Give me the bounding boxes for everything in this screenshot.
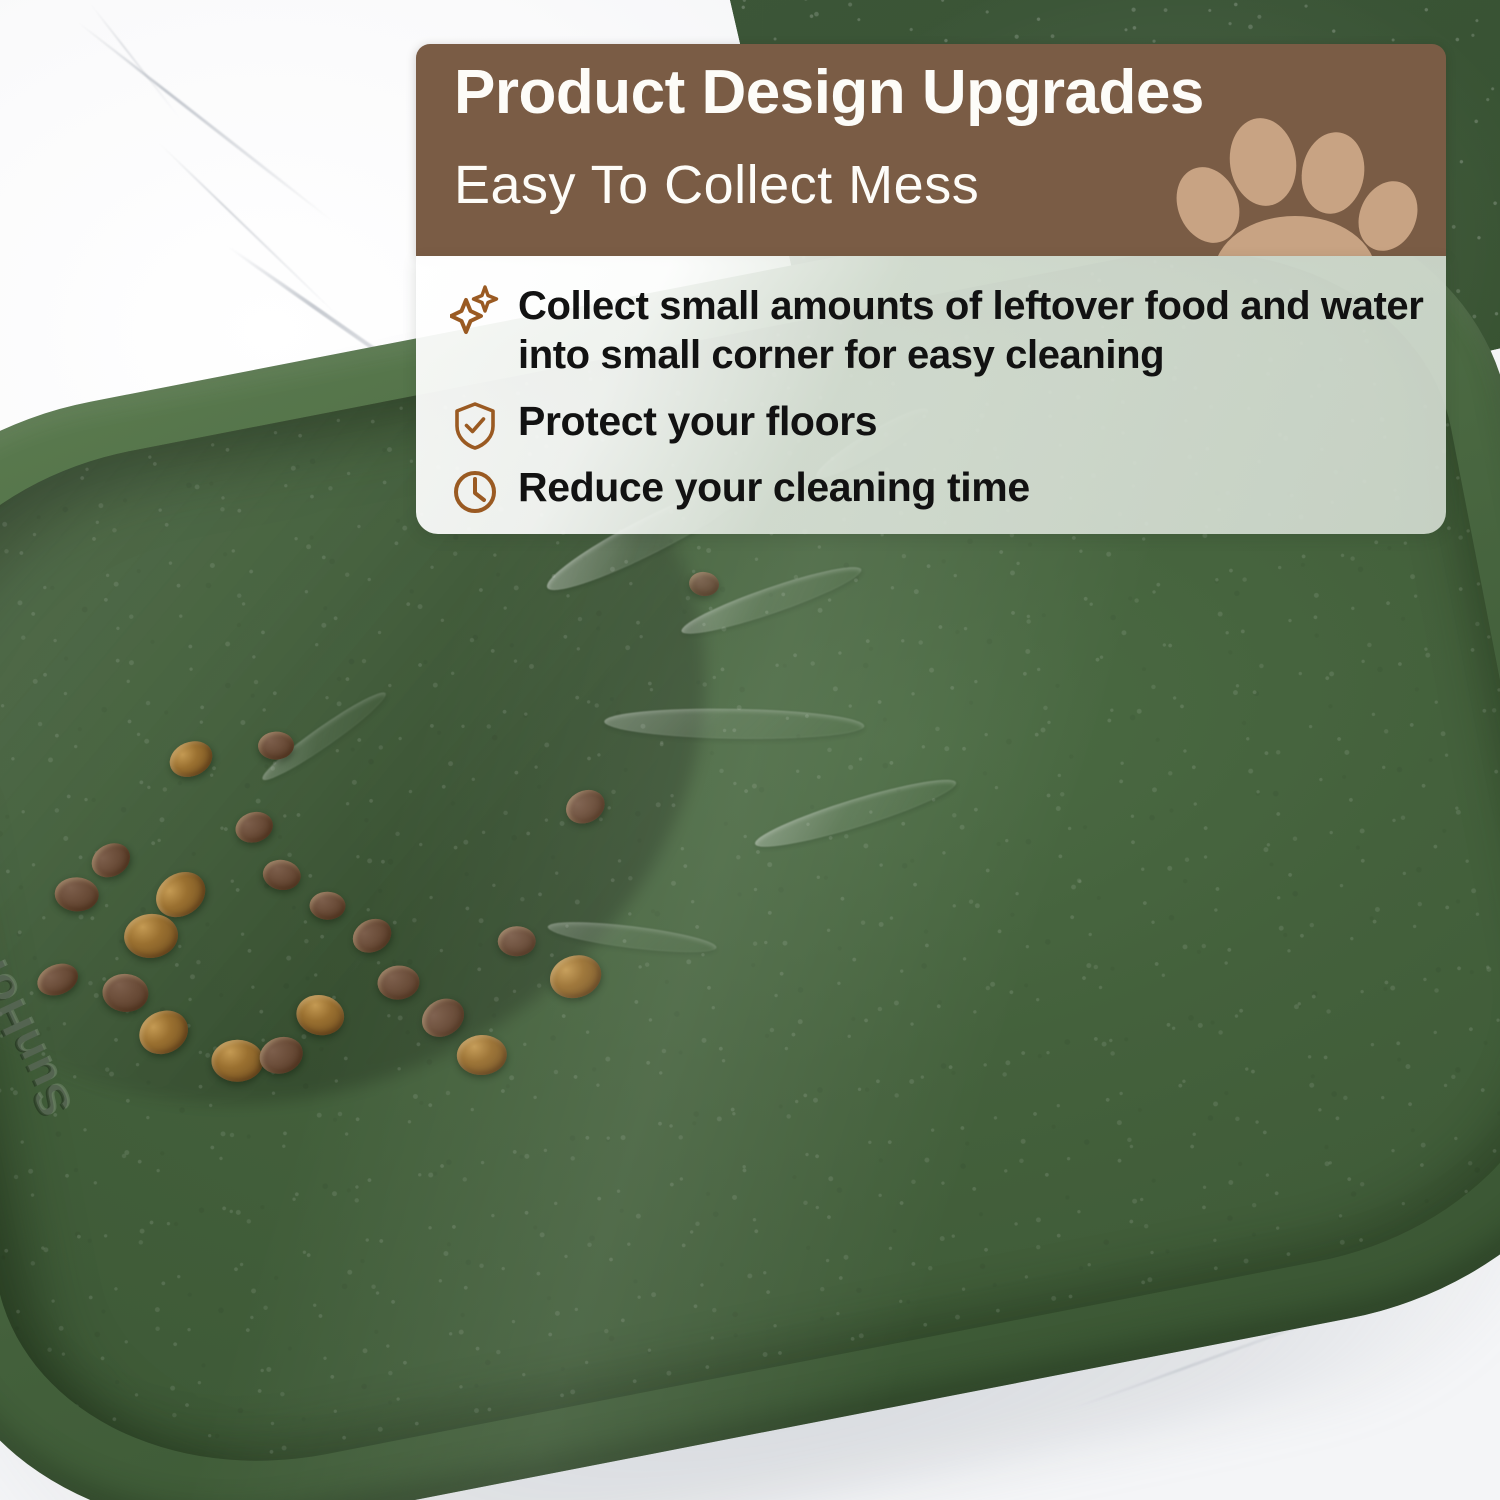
feature-text: Protect your floors xyxy=(518,396,877,446)
feature-list-panel: Collect small amounts of leftover food a… xyxy=(416,256,1446,534)
product-marketing-image: SunHoi Product Design Upgrades Easy To C… xyxy=(0,0,1500,1500)
feature-item: Reduce your cleaning time xyxy=(450,462,1428,518)
sparkle-icon xyxy=(450,284,500,336)
marble-vein xyxy=(88,1,182,120)
feature-item: Collect small amounts of leftover food a… xyxy=(450,282,1428,380)
banner-title: Product Design Upgrades xyxy=(454,60,1446,127)
paw-toe xyxy=(1295,127,1370,219)
header-banner: Product Design Upgrades Easy To Collect … xyxy=(416,44,1446,256)
feature-text: Collect small amounts of leftover food a… xyxy=(518,282,1428,380)
feature-list: Collect small amounts of leftover food a… xyxy=(450,282,1428,528)
feature-item: Protect your floors xyxy=(450,396,1428,452)
clock-icon xyxy=(450,466,500,518)
shield-check-icon xyxy=(450,400,500,452)
marble-vein xyxy=(74,19,336,225)
banner-subtitle: Easy To Collect Mess xyxy=(454,156,979,215)
marble-vein xyxy=(156,140,344,322)
feature-text: Reduce your cleaning time xyxy=(518,462,1030,512)
